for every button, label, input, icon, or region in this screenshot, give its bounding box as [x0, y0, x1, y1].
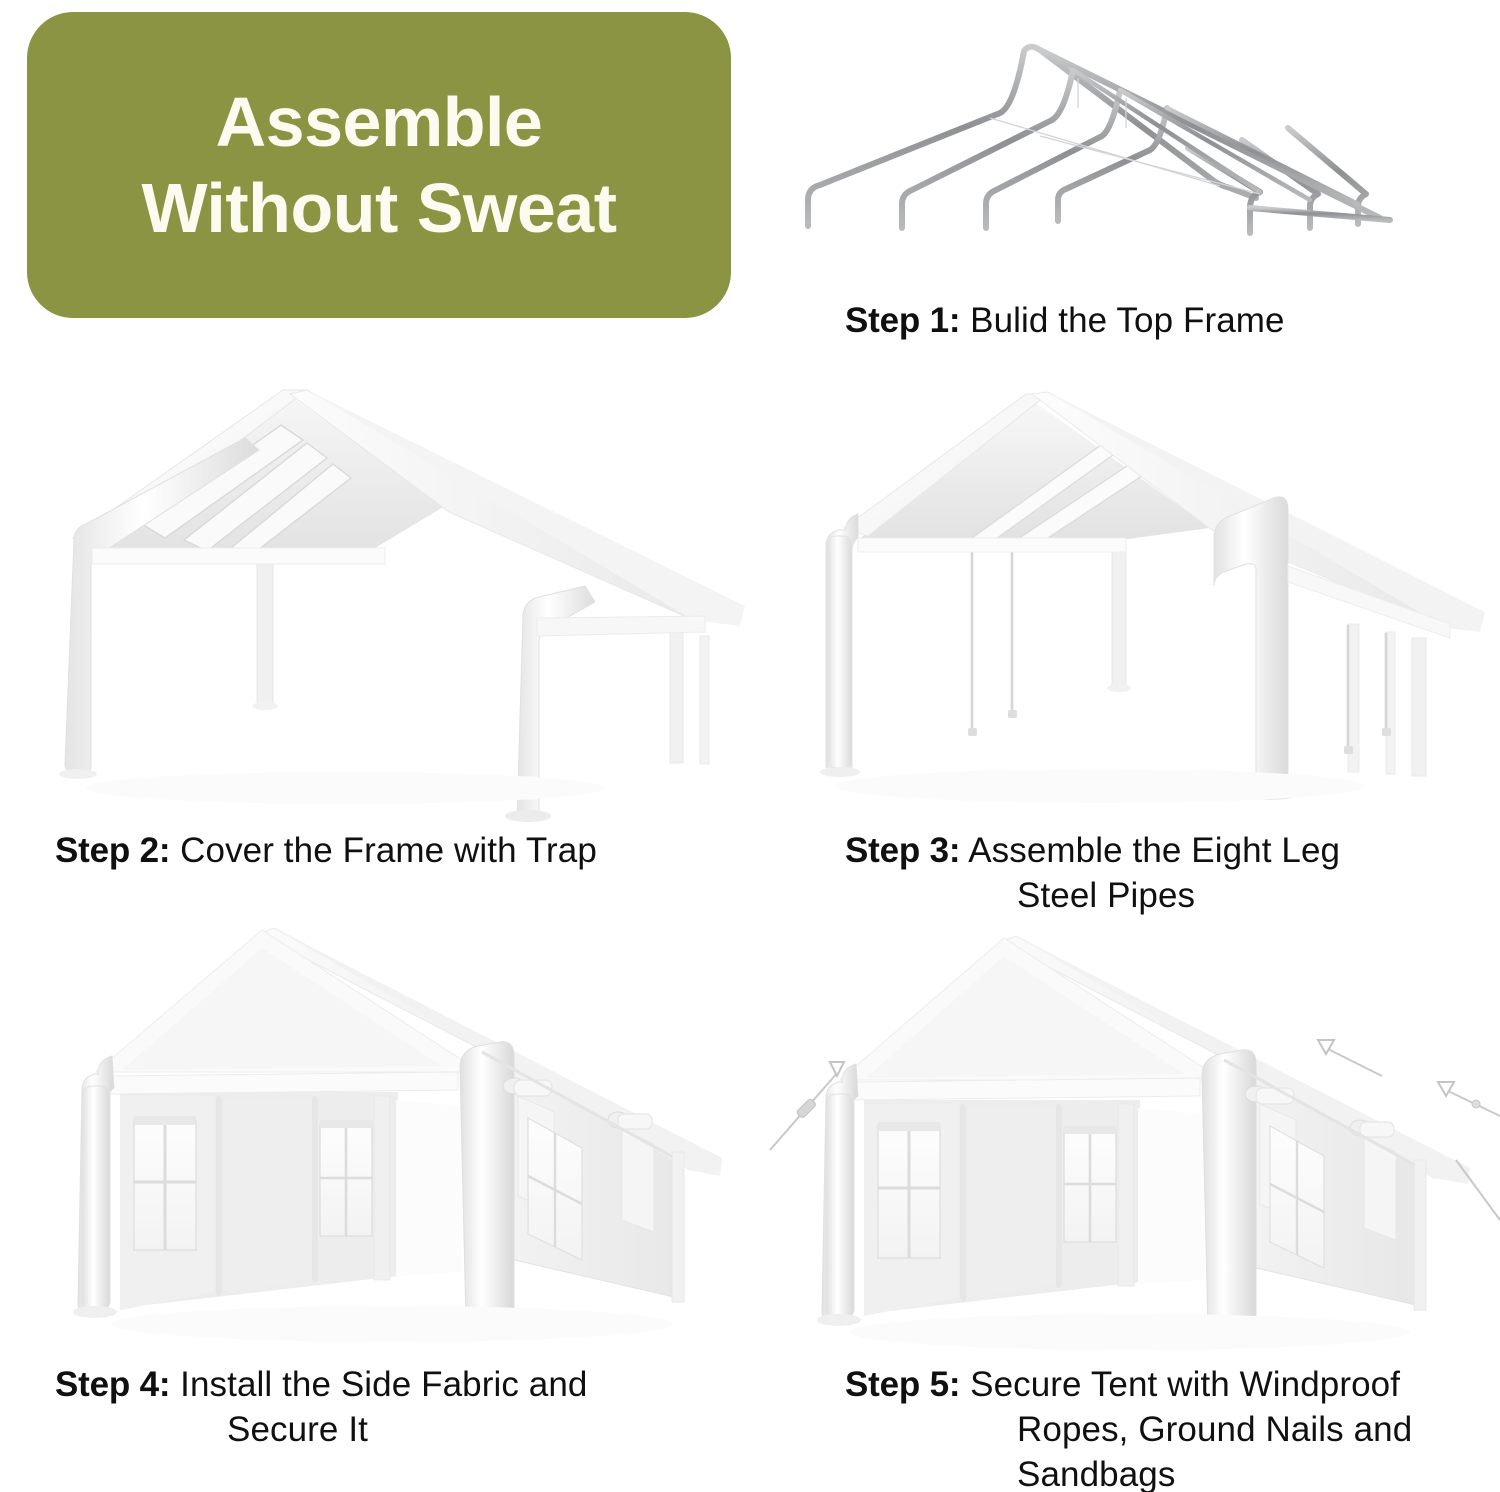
rope-anchor-left	[830, 1062, 844, 1076]
step-3-text-line-2: Steel Pipes	[845, 873, 1485, 918]
guy-rope-right-lower	[1446, 1090, 1500, 1220]
step-4-caption: Step 4: Install the Side Fabric and Secu…	[55, 1362, 755, 1452]
guy-rope-right-upper	[1326, 1048, 1382, 1076]
canopy-with-eight-legs-icon	[760, 388, 1500, 820]
step-3-caption: Step 3: Assemble the Eight Leg Steel Pip…	[845, 828, 1485, 918]
assembly-steps-infographic: Assemble Without Sweat	[0, 0, 1500, 1492]
canopy-covered-frame-icon	[45, 388, 775, 820]
step-3-label: Step 3:	[845, 831, 960, 870]
step-5-text-line-3: Sandbags	[845, 1452, 1500, 1492]
step-5-caption: Step 5: Secure Tent with Windproof Ropes…	[845, 1362, 1500, 1492]
window-pane-1	[878, 1122, 940, 1258]
hero-title-line-2: Without Sweat	[141, 165, 616, 251]
carport-with-guy-ropes-icon	[770, 920, 1500, 1352]
step-2-text: Cover the Frame with Trap	[180, 831, 597, 870]
window-pane-2	[1064, 1126, 1116, 1242]
step-2-label: Step 2:	[55, 831, 170, 870]
step-4-text: Install the Side Fabric and	[180, 1365, 587, 1404]
rope-tensioner-right	[1472, 1100, 1480, 1108]
window-pane-2	[320, 1120, 372, 1236]
step-1-caption: Step 1: Bulid the Top Frame	[845, 298, 1485, 343]
step-3-text: Assemble the Eight Leg	[968, 831, 1340, 870]
step-4-label: Step 4:	[55, 1365, 170, 1404]
rope-tensioner-left	[796, 1098, 817, 1119]
rope-anchor-right-lower	[1438, 1082, 1454, 1096]
step-2-illustration	[45, 388, 775, 820]
step-2-caption: Step 2: Cover the Frame with Trap	[55, 828, 755, 873]
window-pane-1	[134, 1116, 196, 1250]
step-1-text: Bulid the Top Frame	[970, 301, 1284, 340]
step-1-label: Step 1:	[845, 301, 960, 340]
carport-with-side-walls-icon	[62, 920, 762, 1352]
step-5-text-line-2: Ropes, Ground Nails and	[845, 1407, 1500, 1452]
step-4-illustration	[62, 920, 762, 1352]
step-5-illustration	[770, 920, 1500, 1352]
step-1-illustration	[790, 28, 1410, 243]
step-5-text: Secure Tent with Windproof	[970, 1365, 1400, 1404]
step-3-illustration	[760, 388, 1500, 820]
hero-title-line-1: Assemble	[216, 79, 543, 165]
step-4-text-line-2: Secure It	[55, 1407, 755, 1452]
roof-frame-tubes-icon	[790, 28, 1410, 243]
step-5-label: Step 5:	[845, 1365, 960, 1404]
hero-badge: Assemble Without Sweat	[27, 12, 731, 318]
